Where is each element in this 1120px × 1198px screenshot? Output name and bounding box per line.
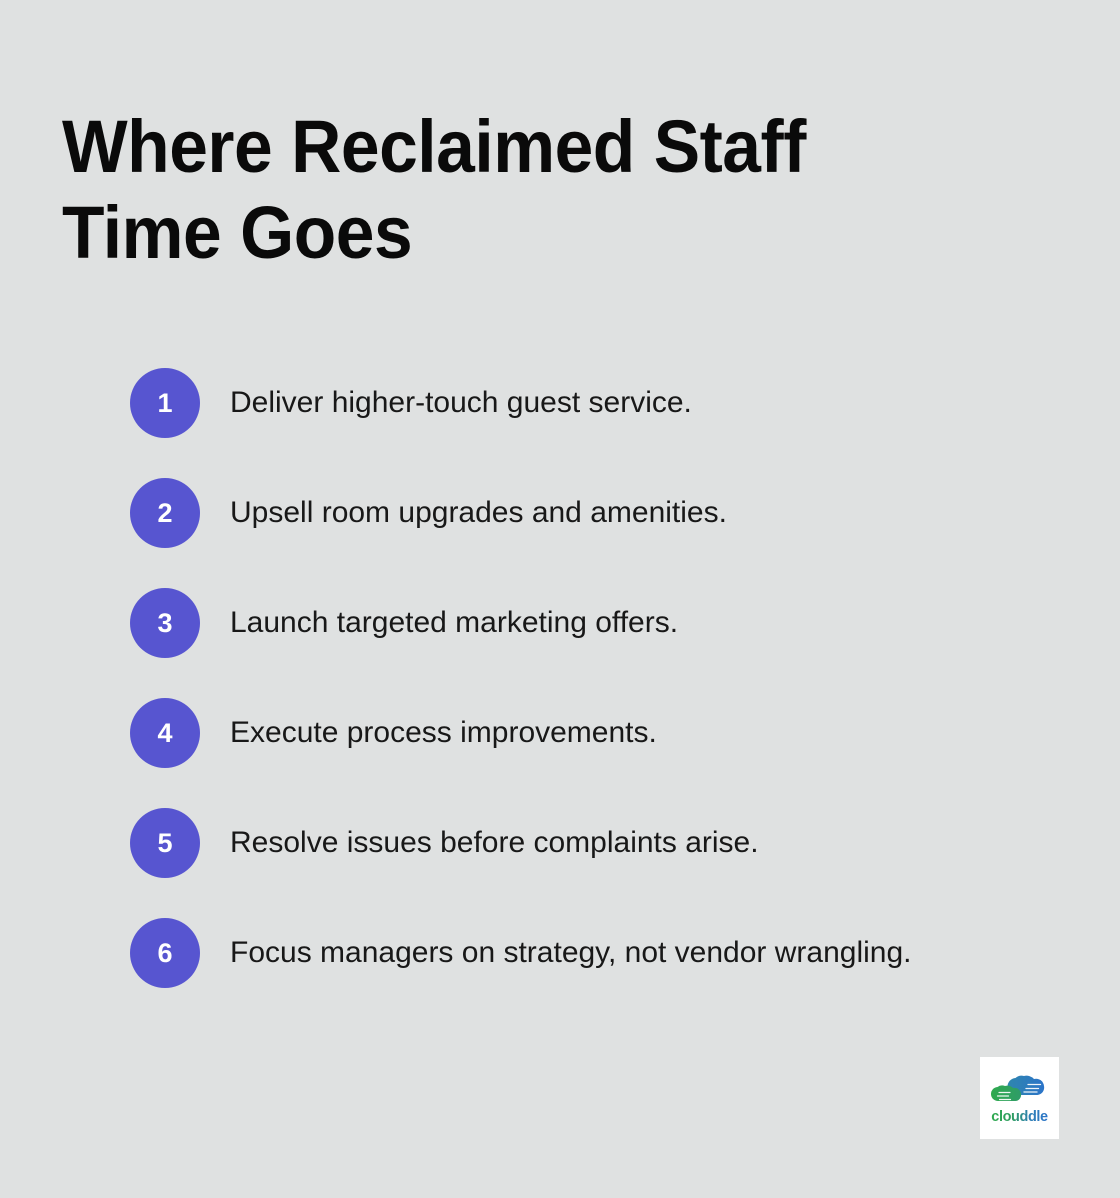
step-number-badge: 5 [130,808,200,878]
double-cloud-icon [991,1071,1049,1109]
step-number-badge: 1 [130,368,200,438]
list-item: 3 Launch targeted marketing offers. [130,588,1070,658]
step-label: Launch targeted marketing offers. [230,605,678,641]
list-item: 2 Upsell room upgrades and amenities. [130,478,1070,548]
numbered-list: 1 Deliver higher-touch guest service. 2 … [130,368,1070,988]
step-number-badge: 3 [130,588,200,658]
step-label: Upsell room upgrades and amenities. [230,495,727,531]
step-label: Resolve issues before complaints arise. [230,825,759,861]
list-item: 6 Focus managers on strategy, not vendor… [130,918,1070,988]
step-label: Focus managers on strategy, not vendor w… [230,935,911,971]
title-block: Where Reclaimed Staff Time Goes [62,104,982,276]
list-item: 1 Deliver higher-touch guest service. [130,368,1070,438]
step-label: Deliver higher-touch guest service. [230,385,692,421]
step-number-badge: 6 [130,918,200,988]
list-item: 4 Execute process improvements. [130,698,1070,768]
brand-logo: clouddle [980,1057,1059,1139]
step-number-badge: 4 [130,698,200,768]
list-item: 5 Resolve issues before complaints arise… [130,808,1070,878]
step-number-badge: 2 [130,478,200,548]
logo-wordmark: clouddle [991,1110,1047,1125]
page-title: Where Reclaimed Staff Time Goes [62,104,927,276]
poster-canvas: Where Reclaimed Staff Time Goes 1 Delive… [0,0,1120,1198]
step-label: Execute process improvements. [230,715,657,751]
